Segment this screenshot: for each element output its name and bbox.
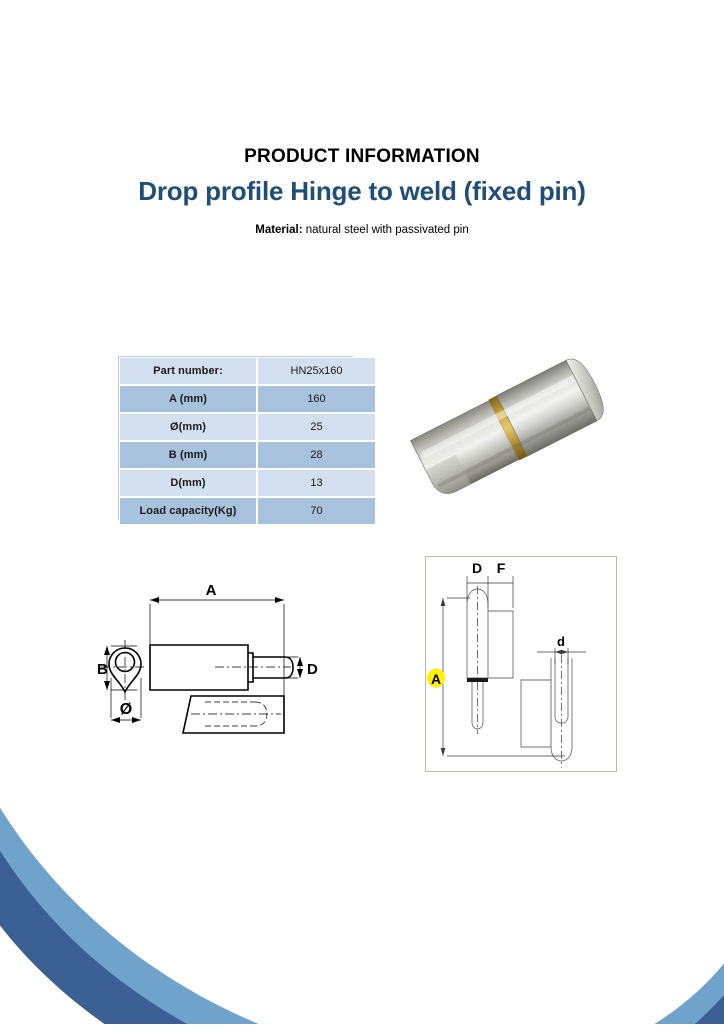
table-row: Part number: HN25x160 bbox=[119, 357, 376, 385]
row-label: D(mm) bbox=[119, 469, 257, 497]
dimension-label-a-right: A bbox=[431, 671, 441, 687]
dimension-label-d-upper: D bbox=[472, 560, 482, 576]
row-value: 13 bbox=[257, 469, 376, 497]
row-value: HN25x160 bbox=[257, 357, 376, 385]
table-row: A (mm) 160 bbox=[119, 385, 376, 413]
row-label: Ø(mm) bbox=[119, 413, 257, 441]
document-header: PRODUCT INFORMATION Drop profile Hinge t… bbox=[0, 144, 724, 238]
specification-table: Part number: HN25x160 A (mm) 160 Ø(mm) 2… bbox=[119, 357, 376, 525]
swoosh-light-band bbox=[0, 730, 724, 1024]
page-kicker: PRODUCT INFORMATION bbox=[0, 144, 724, 170]
row-value: 25 bbox=[257, 413, 376, 441]
row-value: 70 bbox=[257, 497, 376, 525]
dimension-label-f: F bbox=[497, 560, 506, 576]
technical-drawing-exploded-view: A D F d bbox=[425, 556, 617, 772]
material-value: natural steel with passivated pin bbox=[303, 224, 469, 236]
row-value: 160 bbox=[257, 385, 376, 413]
page-title: Drop profile Hinge to weld (fixed pin) bbox=[0, 174, 724, 208]
table-row: Load capacity(Kg) 70 bbox=[119, 497, 376, 525]
material-label: Material: bbox=[255, 224, 302, 236]
swoosh-dark-band bbox=[0, 760, 724, 1024]
dimension-label-d: D bbox=[307, 661, 318, 678]
technical-drawing-front-view: A B D Ø bbox=[95, 578, 407, 753]
dimension-label-diameter: Ø bbox=[120, 701, 132, 718]
table-row: B (mm) 28 bbox=[119, 441, 376, 469]
drawing-right-svg: A D F d bbox=[425, 556, 617, 772]
row-label: Part number: bbox=[119, 357, 257, 385]
product-photo bbox=[378, 330, 628, 522]
row-label: A (mm) bbox=[119, 385, 257, 413]
row-label: Load capacity(Kg) bbox=[119, 497, 257, 525]
dimension-label-a: A bbox=[206, 582, 217, 599]
dimension-label-d-lower: d bbox=[557, 634, 565, 649]
row-label: B (mm) bbox=[119, 441, 257, 469]
table-row: Ø(mm) 25 bbox=[119, 413, 376, 441]
hinge-photo-illustration bbox=[378, 330, 628, 522]
table-row: D(mm) 13 bbox=[119, 469, 376, 497]
dimension-label-b: B bbox=[97, 661, 108, 678]
material-line: Material: natural steel with passivated … bbox=[0, 222, 724, 238]
drawing-left-svg: A B D Ø bbox=[95, 578, 407, 753]
hinge-body-group bbox=[410, 353, 610, 500]
row-value: 28 bbox=[257, 441, 376, 469]
